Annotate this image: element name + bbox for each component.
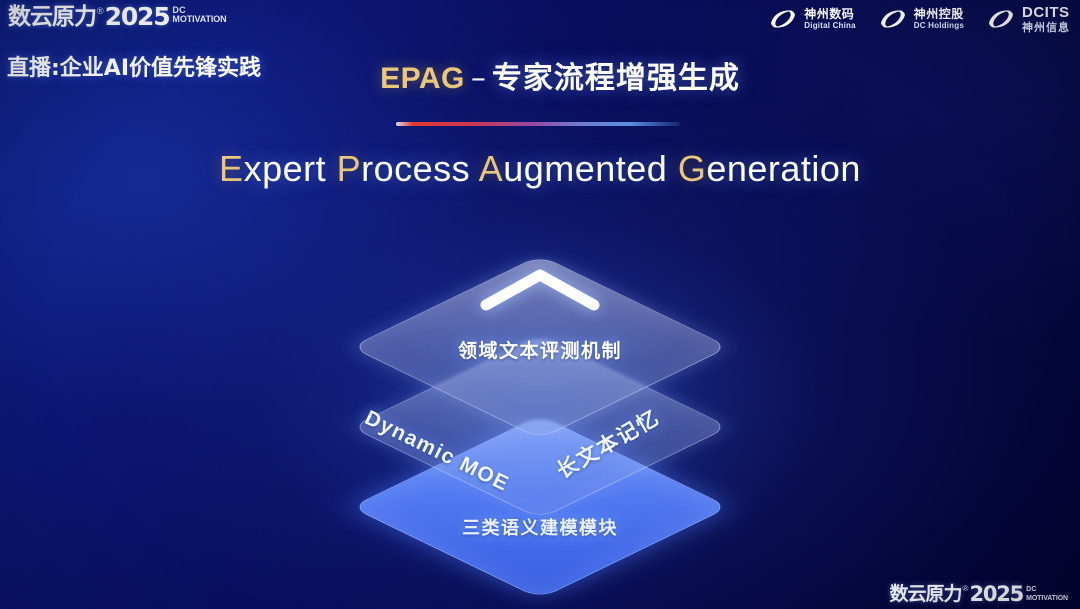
- partner-logo-dc-holdings: 神州控股 DC Holdings: [878, 7, 964, 31]
- footer-brand-chinese: 数云原力: [890, 583, 962, 605]
- partner-name-cn: 神州控股: [914, 8, 964, 20]
- footer-brand-registered-mark: ®: [963, 584, 969, 594]
- partner-logo-text: 神州数码 Digital China: [804, 8, 856, 30]
- slide-title-chinese: 专家流程增强生成: [492, 61, 740, 96]
- footer-brand-logo: 数云原力 ® 2025 DC MOTIVATION: [890, 583, 1068, 605]
- partner-logo-text: 神州控股 DC Holdings: [914, 8, 964, 30]
- subtitle-part-0: E: [219, 148, 244, 189]
- gradient-divider: [396, 122, 680, 126]
- subtitle-part-6: G: [678, 148, 707, 189]
- partner-name-cn: 神州信息: [1022, 22, 1070, 33]
- brand-logo-registered-mark: ®: [97, 5, 104, 17]
- partner-logo-digital-china: 神州数码 Digital China: [768, 7, 856, 31]
- live-stream-label: 直播:企业AI价值先锋实践: [7, 50, 261, 82]
- footer-brand-tagline-line1: DC: [1026, 585, 1068, 594]
- brand-logo-chinese: 数云原力: [8, 4, 96, 30]
- partner-logo-text: DCITS 神州信息: [1022, 5, 1070, 33]
- brand-logo: 数云原力 ® 2025 DC MOTIVATION: [8, 4, 227, 30]
- partner-name-cn: 神州数码: [804, 8, 856, 20]
- slide-title-acronym: EPAG: [380, 62, 465, 95]
- partner-logo-dcits: DCITS 神州信息: [986, 5, 1070, 33]
- subtitle-part-4: A: [479, 148, 504, 189]
- footer-brand-tagline: DC MOTIVATION: [1026, 585, 1068, 603]
- partner-name-en: DC Holdings: [914, 22, 964, 30]
- subtitle-part-1: xpert: [244, 148, 337, 189]
- slide-subtitle: Expert Process Augmented Generation: [0, 148, 1080, 190]
- swoosh-icon: [986, 7, 1016, 31]
- brand-logo-tagline: DC MOTIVATION: [172, 6, 226, 24]
- swoosh-icon: [878, 7, 908, 31]
- brand-logo-year: 2025: [105, 4, 170, 30]
- brand-logo-tagline-line2: MOTIVATION: [172, 15, 226, 24]
- swoosh-icon: [768, 7, 798, 31]
- subtitle-part-5: ugmented: [503, 148, 678, 189]
- subtitle-part-7: eneration: [706, 148, 861, 189]
- footer-brand-tagline-line2: MOTIVATION: [1026, 594, 1068, 603]
- presentation-slide: 数云原力 ® 2025 DC MOTIVATION 直播:企业AI价值先锋实践 …: [0, 0, 1080, 609]
- subtitle-part-3: rocess: [361, 148, 479, 189]
- slide-title-dash: –: [465, 61, 492, 96]
- partner-name-en: Digital China: [804, 22, 856, 30]
- subtitle-part-2: P: [337, 148, 362, 189]
- layered-stack-diagram: 领域文本评测机制 Dynamic MOE 长文本记忆 三类语义建模模块: [290, 225, 790, 570]
- partner-name-en: DCITS: [1022, 5, 1070, 20]
- partner-logo-group: 神州数码 Digital China 神州控股 DC Holdings: [768, 5, 1070, 33]
- footer-brand-year: 2025: [969, 583, 1023, 605]
